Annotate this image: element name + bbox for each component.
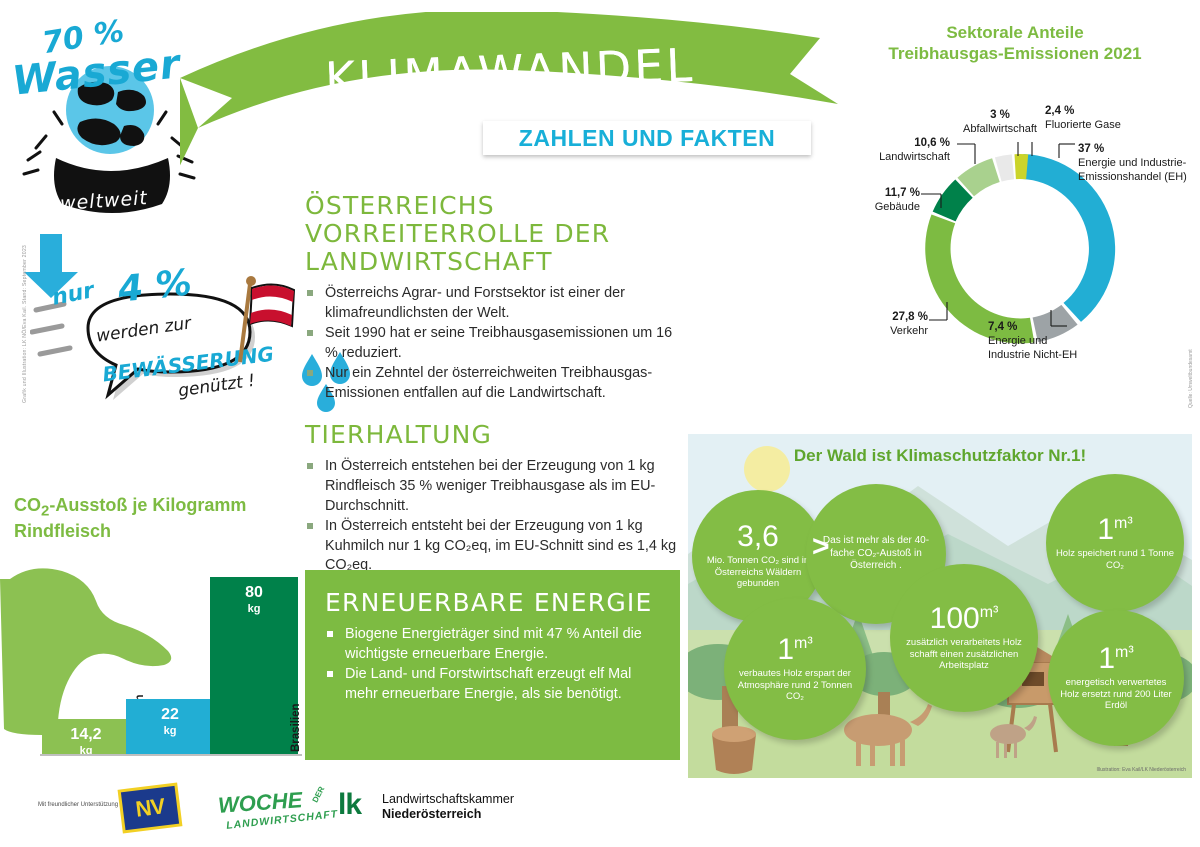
donut-label-name: Abfallwirtschaft bbox=[963, 123, 1037, 135]
card-heading: Erneuerbare Energie bbox=[325, 588, 660, 617]
woche-logo-der: DER bbox=[311, 785, 327, 804]
bar-chart-title: CO2-Ausstoß je Kilogramm Rindfleisch bbox=[14, 495, 304, 542]
stat-text: energetisch verwertetes Holz ersetzt run… bbox=[1048, 677, 1184, 713]
forest-panel: Der Wald ist Klimaschutzfaktor Nr.1! 3,6… bbox=[688, 434, 1192, 778]
donut-label-name2: Industrie Nicht-EH bbox=[988, 349, 1077, 361]
forest-stat-circle-3: 1m³ Holz speichert rund 1 Tonne CO₂ bbox=[1046, 474, 1184, 612]
woche-der-landwirtschaft-logo: WOCHE DER LANDWIRTSCHAFT bbox=[218, 788, 328, 834]
nv-logo: NV bbox=[118, 783, 183, 834]
donut-label-name: Landwirtschaft bbox=[879, 151, 950, 163]
lk-logo-line1: Landwirtschaftskammer bbox=[382, 792, 514, 806]
forest-panel-title: Der Wald ist Klimaschutzfaktor Nr.1! bbox=[688, 446, 1192, 466]
bar-unit: kg bbox=[126, 725, 214, 737]
lk-logo-text: Landwirtschaftskammer Niederösterreich bbox=[382, 792, 514, 823]
list-item: Österreichs Agrar- und Forstsektor ist e… bbox=[305, 284, 680, 323]
donut-label-gebaeude: 11,7 % Gebäude bbox=[824, 186, 920, 215]
donut-chart: Sektorale Anteile Treibhausgas-Emissione… bbox=[830, 22, 1200, 422]
stat-big-value: 1m³ bbox=[1098, 644, 1133, 674]
infographic-canvas: 70 % Wasser weltweit nur 4 % werden zur … bbox=[0, 0, 1200, 847]
donut-label-name2: Emissionshandel (EH) bbox=[1078, 171, 1187, 183]
donut-label-pct: 10,6 % bbox=[914, 137, 950, 149]
stat-text: zusätzlich verarbeitets Holz schafft ein… bbox=[890, 637, 1038, 673]
forest-stat-circle-6: 1m³ energetisch verwertetes Holz ersetzt… bbox=[1048, 610, 1184, 746]
footer: Mit freundlicher Unterstützung von NV WO… bbox=[0, 782, 1200, 844]
stat-big-value: 1m³ bbox=[1097, 515, 1132, 545]
donut-label-name: Fluorierte Gase bbox=[1045, 119, 1121, 131]
donut-label-landwirtschaft: 10,6 % Landwirtschaft bbox=[830, 136, 950, 165]
list-item: Biogene Energieträger sind mit 47 % Ante… bbox=[325, 625, 660, 664]
donut-title-line2: Treibhausgas-Emissionen 2021 bbox=[888, 44, 1141, 63]
bar-oesterreich: 14,2 kg bbox=[42, 719, 130, 755]
donut-chart-source: Quelle: Umweltbundesamt bbox=[1188, 318, 1194, 408]
greater-than-icon: > bbox=[812, 530, 830, 564]
header-banner: KLIMAWANDEL ZAHLEN UND FAKTEN bbox=[180, 12, 840, 192]
card-erneuerbare-energie: Erneuerbare Energie Biogene Energieträge… bbox=[305, 570, 680, 760]
bar-eu-durchschnitt: 22 kg bbox=[126, 699, 214, 755]
donut-label-name: Energie und Industrie- bbox=[1078, 157, 1186, 169]
forest-stat-circle-5: 100m³ zusätzlich verarbeitets Holz schaf… bbox=[890, 564, 1038, 712]
donut-label-fluorierte-gase: 2,4 % Fluorierte Gase bbox=[1045, 104, 1175, 133]
lk-logo-line2: Niederösterreich bbox=[382, 807, 481, 821]
list-item: Nur ein Zehntel der österreichweiten Tre… bbox=[305, 364, 680, 403]
bar-value: 22 bbox=[126, 706, 214, 724]
list-item: In Österreich entstehen bei der Erzeugun… bbox=[305, 457, 680, 516]
bar-chart-plot: 14,2 kg Österreich 22 kg EU-Durchschnitt… bbox=[14, 555, 304, 760]
list-item: In Österreich entsteht bei der Erzeugung… bbox=[305, 517, 680, 576]
bar-chart-axis bbox=[40, 754, 302, 756]
bar-brasilien: 80 kg bbox=[210, 577, 298, 755]
tree-stump-icon bbox=[712, 726, 756, 774]
footer-note: Mit freundlicher Unterstützung von bbox=[38, 802, 129, 808]
donut-label-verkehr: 27,8 % Verkehr bbox=[840, 310, 928, 339]
donut-label-pct: 3 % bbox=[990, 109, 1010, 121]
austria-flag-icon bbox=[228, 272, 298, 368]
donut-label-name: Energie und bbox=[988, 335, 1047, 347]
section-heading-tierhaltung: Tierhaltung bbox=[305, 421, 680, 449]
donut-label-pct: 27,8 % bbox=[892, 311, 928, 323]
donut-label-energie-eh: 37 % Energie und Industrie- Emissionshan… bbox=[1078, 142, 1200, 184]
donut-label-energie-nicht-eh: 7,4 % Energie und Industrie Nicht-EH bbox=[988, 320, 1118, 362]
page-subtitle: ZAHLEN UND FAKTEN bbox=[483, 121, 811, 155]
stat-big-value: 100m³ bbox=[930, 604, 999, 634]
donut-label-pct: 11,7 % bbox=[885, 187, 920, 199]
bullet-list-vorreiterrolle: Österreichs Agrar- und Forstsektor ist e… bbox=[305, 284, 680, 403]
donut-label-pct: 2,4 % bbox=[1045, 105, 1074, 117]
stat-big-value: 1m³ bbox=[777, 635, 812, 665]
lk-logo-mark: lk bbox=[338, 790, 361, 820]
forest-illustration-credit: Illustration: Eva Kail/LK Niederösterrei… bbox=[1097, 767, 1187, 773]
donut-label-abfallwirtschaft: 3 % Abfallwirtschaft bbox=[940, 108, 1060, 137]
bar-category-brasilien: Brasilien bbox=[290, 680, 302, 752]
bullet-list-energie: Biogene Energieträger sind mit 47 % Ante… bbox=[325, 625, 660, 704]
bar-chart: CO2-Ausstoß je Kilogramm Rindfleisch 14,… bbox=[14, 495, 304, 765]
list-item: Die Land- und Forstwirtschaft erzeugt el… bbox=[325, 665, 660, 704]
bar-title-line2: Rindfleisch bbox=[14, 521, 111, 541]
bar-unit: kg bbox=[210, 603, 298, 615]
donut-slice-fluorierte-gase bbox=[1015, 154, 1029, 179]
forest-stat-circle-4: 1m³ verbautes Holz erspart der Atmosphär… bbox=[724, 598, 866, 740]
stat-big-value: 3,6 bbox=[737, 522, 779, 552]
donut-label-pct: 7,4 % bbox=[988, 321, 1017, 333]
label-4-percent: 4 % bbox=[116, 262, 194, 310]
list-item: Seit 1990 hat er seine Treibhausgasemiss… bbox=[305, 324, 680, 363]
nv-logo-text: NV bbox=[121, 786, 179, 830]
stat-text: verbautes Holz erspart der Atmosphäre ru… bbox=[724, 668, 866, 704]
main-text-column: Österreichs Vorreiterrolle der Landwirts… bbox=[305, 192, 680, 577]
illustration-credit: Grafik und Illustration: LK NÖ/Eva Kail.… bbox=[22, 293, 28, 403]
donut-title-line1: Sektorale Anteile bbox=[946, 23, 1083, 42]
bar-title-line1: CO2-Ausstoß je Kilogramm bbox=[14, 495, 246, 515]
bullet-list-tierhaltung: In Österreich entstehen bei der Erzeugun… bbox=[305, 457, 680, 575]
stat-text: Mio. Tonnen CO₂ sind in Österreichs Wäld… bbox=[692, 555, 824, 591]
donut-label-pct: 37 % bbox=[1078, 143, 1104, 155]
donut-label-name: Gebäude bbox=[875, 201, 920, 213]
bar-value: 80 bbox=[210, 584, 298, 602]
donut-label-name: Verkehr bbox=[890, 325, 928, 337]
bar-value: 14,2 bbox=[42, 726, 130, 744]
stat-text: Holz speichert rund 1 Tonne CO₂ bbox=[1046, 548, 1184, 572]
section-heading-vorreiterrolle: Österreichs Vorreiterrolle der Landwirts… bbox=[305, 192, 680, 276]
donut-chart-title: Sektorale Anteile Treibhausgas-Emissione… bbox=[830, 22, 1200, 65]
